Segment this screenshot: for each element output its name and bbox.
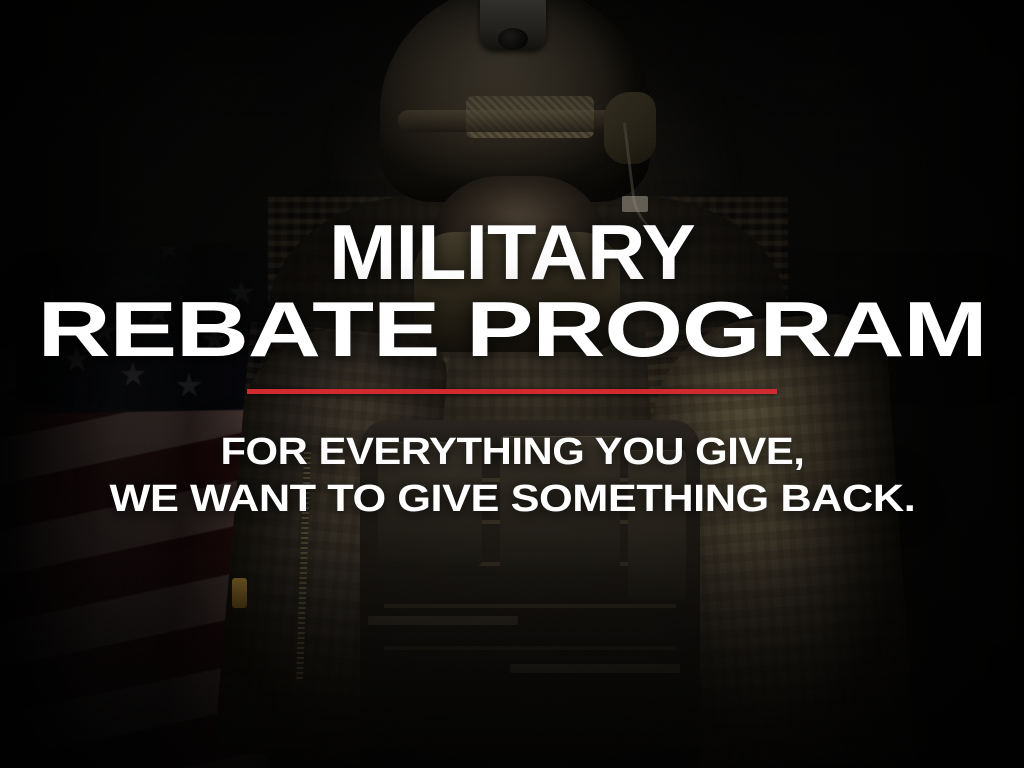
poster-canvas: MILITARY REBATE PROGRAM FOR EVERYTHING Y… [0,0,1024,768]
headline-line-2: REBATE PROGRAM [38,293,987,366]
text-overlay: MILITARY REBATE PROGRAM FOR EVERYTHING Y… [0,0,1024,768]
red-divider-rule [247,389,777,394]
subheadline-line-1: FOR EVERYTHING YOU GIVE, [220,432,804,473]
headline-line-1: MILITARY [329,216,695,289]
subheadline-line-2: WE WANT TO GIVE SOMETHING BACK. [109,479,915,520]
